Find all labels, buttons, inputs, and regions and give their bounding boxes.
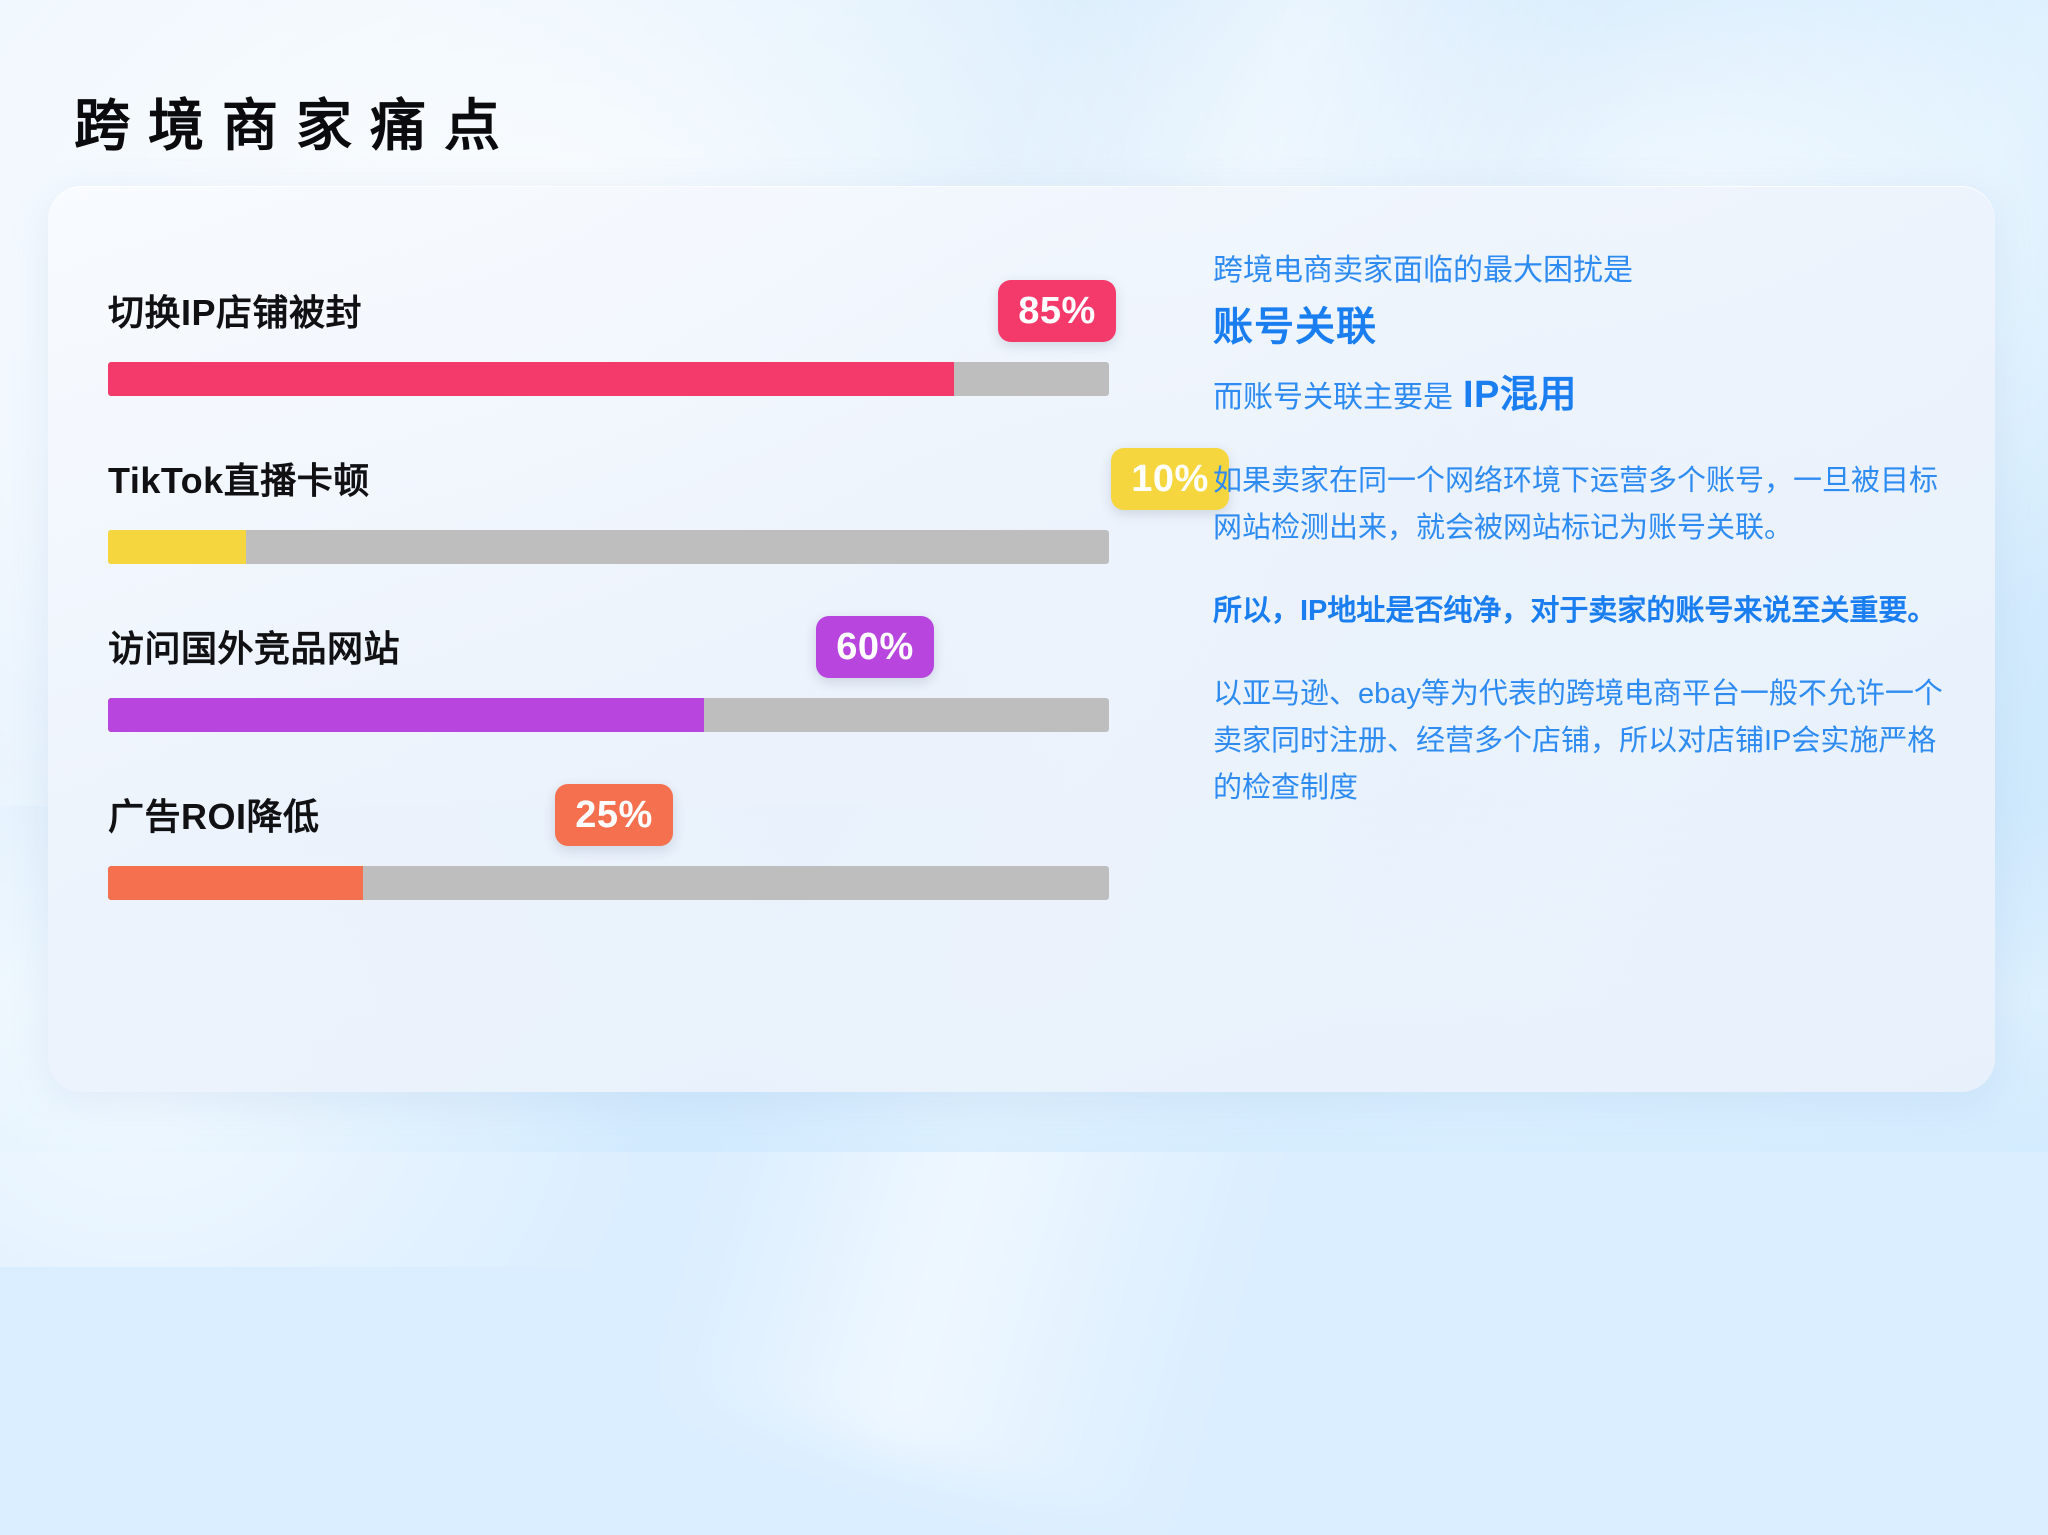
pain-point-label: TikTok直播卡顿: [108, 452, 370, 504]
pain-point-value-badge: 25%: [555, 784, 673, 846]
pain-point-progress-track: [108, 362, 1109, 396]
content-card: 切换IP店铺被封85%TikTok直播卡顿10%访问国外竞品网站60%广告ROI…: [48, 186, 1995, 1092]
pain-point-row: 访问国外竞品网站60%: [108, 602, 1158, 770]
info-paragraph: 所以，IP地址是否纯净，对于卖家的账号来说至关重要。: [1213, 588, 1953, 635]
pain-point-value-badge: 85%: [998, 280, 1116, 342]
info-highlight: 账号关联: [1213, 297, 1953, 357]
pain-point-row: TikTok直播卡顿10%: [108, 434, 1158, 602]
pain-point-progress-fill: [108, 530, 246, 564]
pain-point-value-badge: 60%: [816, 616, 934, 678]
info-subline-strong: IP混用: [1463, 374, 1577, 416]
info-lead: 跨境电商卖家面临的最大困扰是: [1213, 248, 1953, 293]
pain-point-progress-fill: [108, 362, 954, 396]
pain-point-row: 切换IP店铺被封85%: [108, 266, 1158, 434]
page-title: 跨境商家痛点: [74, 94, 518, 158]
info-paragraph: 如果卖家在同一个网络环境下运营多个账号，一旦被目标网站检测出来，就会被网站标记为…: [1213, 458, 1953, 552]
info-panel: 跨境电商卖家面临的最大困扰是 账号关联 而账号关联主要是IP混用 如果卖家在同一…: [1213, 248, 1953, 812]
pain-point-value-badge: 10%: [1111, 448, 1229, 510]
pain-point-progress-track: [108, 866, 1109, 900]
pain-point-progress-fill: [108, 866, 363, 900]
pain-point-label: 访问国外竞品网站: [108, 620, 400, 672]
info-paragraph-list: 如果卖家在同一个网络环境下运营多个账号，一旦被目标网站检测出来，就会被网站标记为…: [1213, 458, 1953, 812]
pain-point-label: 广告ROI降低: [108, 788, 320, 840]
pain-point-progress-fill: [108, 698, 704, 732]
pain-point-header: 广告ROI降低25%: [108, 770, 1158, 848]
pain-points-chart: 切换IP店铺被封85%TikTok直播卡顿10%访问国外竞品网站60%广告ROI…: [108, 266, 1158, 938]
pain-point-row: 广告ROI降低25%: [108, 770, 1158, 938]
pain-point-header: 访问国外竞品网站60%: [108, 602, 1158, 680]
pain-point-label: 切换IP店铺被封: [108, 284, 362, 336]
info-paragraph: 以亚马逊、ebay等为代表的跨境电商平台一般不允许一个卖家同时注册、经营多个店铺…: [1213, 671, 1953, 812]
pain-point-header: TikTok直播卡顿10%: [108, 434, 1158, 512]
info-subline-prefix: 而账号关联主要是: [1213, 381, 1453, 414]
pain-point-header: 切换IP店铺被封85%: [108, 266, 1158, 344]
pain-point-progress-track: [108, 530, 1109, 564]
info-subline: 而账号关联主要是IP混用: [1213, 367, 1953, 424]
pain-point-progress-track: [108, 698, 1109, 732]
